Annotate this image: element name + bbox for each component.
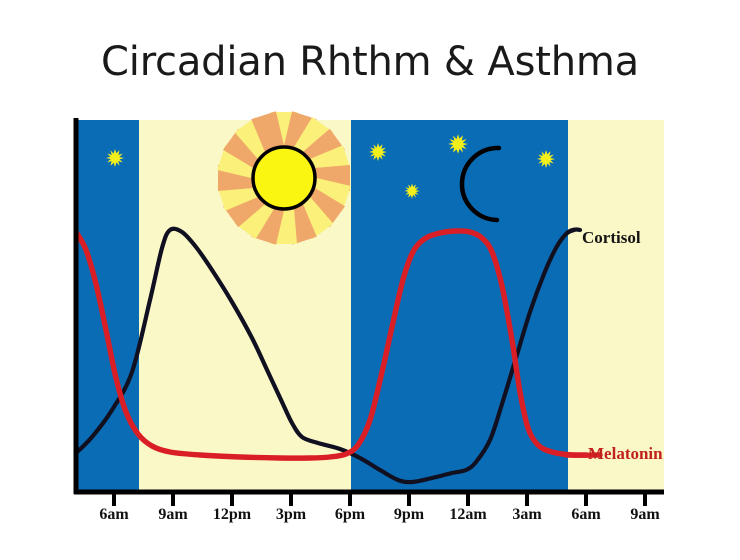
melatonin-legend-label: Melatonin [588, 444, 663, 464]
x-axis-tick-label: 6am [571, 506, 600, 524]
cortisol-legend-label: Cortisol [582, 228, 641, 248]
sun-core [253, 147, 315, 209]
x-axis-tick-label: 9pm [394, 506, 424, 524]
band-night-early [74, 120, 139, 492]
x-axis-tick-label: 3am [512, 506, 541, 524]
sun-icon [217, 111, 351, 245]
x-axis-tick-label: 9am [630, 506, 659, 524]
band-day-next [568, 120, 664, 492]
x-axis-tick-label: 12pm [213, 506, 251, 524]
slide-canvas: Circadian Rhthm & Asthma [0, 0, 740, 555]
x-axis-tick-label: 9am [158, 506, 187, 524]
x-axis-tick-label: 6am [99, 506, 128, 524]
x-axis-tick-label: 6pm [335, 506, 365, 524]
x-axis-tick-label: 3pm [276, 506, 306, 524]
background-bands [74, 120, 664, 492]
circadian-rhythm-chart: 6am9am12pm3pm6pm9pm12am3am6am9am Cortiso… [0, 0, 740, 555]
band-night-late [351, 120, 568, 492]
chart-svg [0, 0, 740, 555]
x-axis-tick-label: 12am [449, 506, 486, 524]
